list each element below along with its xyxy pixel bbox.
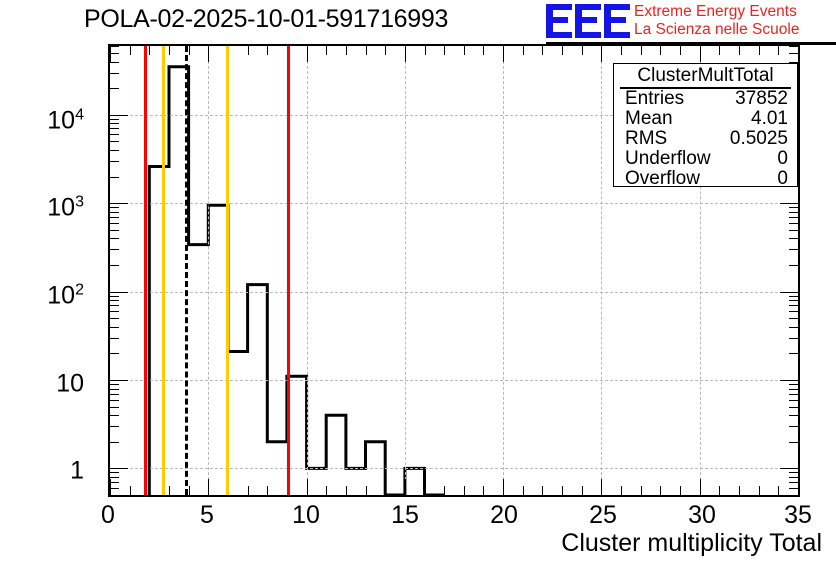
y-axis-tick [110,468,128,469]
y-axis-tick [789,207,798,208]
y-axis-tick [110,472,119,473]
y-axis-tick [110,384,119,385]
y-axis-tick [789,488,798,489]
x-axis-tick [621,46,622,55]
y-axis-tick [110,128,119,129]
x-axis-tick [267,46,268,55]
x-axis-tick [542,486,543,495]
x-ticklabel-25: 25 [589,501,617,530]
y-axis-tick [110,238,119,239]
y-axis-tick [110,212,119,213]
stats-row-underflow: Underflow 0 [614,149,797,169]
y-axis-tick [780,468,798,469]
eee-logo-line2: La Scienza nelle Scuole [634,21,799,39]
x-axis-tick [307,46,308,62]
x-axis-tick [385,46,386,55]
x-axis-tick [759,486,760,495]
y-axis-tick [110,150,119,151]
stats-key-overflow: Overflow [625,169,700,189]
x-axis-tick [601,46,602,62]
stats-value-entries: 37852 [735,89,788,109]
x-axis-tick [130,46,131,55]
x-axis-tick [346,486,347,495]
x-axis-tick [778,486,779,495]
x-axis-tick [641,46,642,55]
x-axis-tick [660,486,661,495]
x-axis-tick [169,46,170,55]
x-axis-tick [326,486,327,495]
stats-value-overflow: 0 [777,169,788,189]
eee-logo-line1: Extreme Energy Events [634,3,797,20]
x-axis-tick [641,486,642,495]
y-axis-tick [110,207,119,208]
y-axis-tick [789,212,798,213]
y-ticklabel-10: 10 [56,370,84,399]
x-axis-tick [700,46,701,62]
y-axis-tick [110,442,119,443]
x-axis-tick [621,486,622,495]
x-axis-tick [739,486,740,495]
y-ticklabel-1: 1 [70,457,84,486]
mean-line [185,46,188,495]
y-axis-tick [789,400,798,401]
y-axis-tick [110,46,119,47]
x-axis-tick [444,486,445,495]
x-axis-tick [739,46,740,55]
y-ticklabel-10000: 104 [47,106,84,135]
y-axis-tick [789,300,798,301]
x-axis-tick [582,46,583,55]
x-axis-tick [542,46,543,55]
y-ticklabel-100: 102 [47,281,84,310]
stats-box: ClusterMultTotal Entries 37852 Mean 4.01… [613,63,798,187]
y-axis-tick [789,394,798,395]
y-axis-tick [110,353,119,354]
x-axis-tick [130,486,131,495]
y-axis-tick [110,62,119,63]
x-ticklabel-30: 30 [688,501,716,530]
x-axis-tick [405,479,406,495]
x-axis-tick [601,479,602,495]
y-axis-tick [110,223,119,224]
y-axis-tick [110,318,119,319]
stats-key-mean: Mean [625,109,673,129]
x-axis-tick [307,479,308,495]
y-axis-tick [110,407,119,408]
x-axis-tick [483,486,484,495]
x-axis-tick [385,486,386,495]
y-axis-tick [110,305,119,306]
y-axis-tick [789,311,798,312]
y-axis-tick [789,296,798,297]
stats-row-entries: Entries 37852 [614,89,797,109]
y-axis-tick [110,230,119,231]
gridline-vertical [307,46,308,495]
x-axis-tick [248,46,249,55]
x-ticklabel-5: 5 [200,501,214,530]
x-axis-tick [189,486,190,495]
eee-logo: Extreme Energy Events La Scienza nelle S… [546,2,836,44]
x-axis-tick [425,486,426,495]
y-axis-tick [110,389,119,390]
y-axis-tick [780,292,798,293]
y-axis-tick [789,238,798,239]
stats-key-rms: RMS [625,129,667,149]
y-ticklabel-1000: 103 [47,193,84,222]
y-axis-tick [110,394,119,395]
y-axis-tick [789,407,798,408]
y-axis-tick [789,353,798,354]
y-axis-tick [110,400,119,401]
y-axis-tick [789,249,798,250]
y-axis-tick [789,53,798,54]
x-axis-tick [523,486,524,495]
y-axis-tick [789,46,798,47]
y-axis-tick [789,472,798,473]
eee-logo-mark [546,4,630,38]
y-axis-tick [110,119,119,120]
x-axis-tick [562,46,563,55]
stats-value-mean: 4.01 [751,109,788,129]
gridline-vertical [503,46,504,495]
y-axis-tick [110,88,119,89]
x-axis-tick [444,46,445,55]
y-axis-tick [789,389,798,390]
x-ticklabel-35: 35 [784,501,812,530]
x-axis-tick [700,479,701,495]
stats-key-entries: Entries [625,89,684,109]
x-axis-title: Cluster multiplicity Total [561,529,822,558]
y-axis-tick [110,53,119,54]
y-axis-tick [789,477,798,478]
y-axis-tick [789,384,798,385]
stats-row-overflow: Overflow 0 [614,169,797,189]
x-ticklabel-0: 0 [101,501,115,530]
gridline-horizontal [110,203,798,204]
stats-key-underflow: Underflow [625,149,711,169]
x-axis-tick [110,46,111,62]
y-axis-tick [789,265,798,266]
gridline-vertical [208,46,209,495]
y-axis-tick [789,223,798,224]
gridline-vertical [405,46,406,495]
x-ticklabel-15: 15 [391,501,419,530]
x-axis-tick [169,486,170,495]
y-axis-tick [110,488,119,489]
x-axis-tick [680,486,681,495]
y-axis-tick [110,141,119,142]
x-axis-tick [719,486,720,495]
page-title: POLA-02-2025-10-01-591716993 [84,5,448,34]
x-axis-tick [189,46,190,55]
y-axis-tick [789,482,798,483]
y-axis-tick [110,426,119,427]
x-axis-tick [660,46,661,55]
y-axis-tick [110,311,119,312]
x-axis-tick [778,46,779,55]
x-axis-tick [346,46,347,55]
stats-row-mean: Mean 4.01 [614,109,797,129]
red-lower-limit [144,46,147,495]
y-axis-tick [110,292,128,293]
x-axis-tick [405,46,406,62]
x-axis-tick [680,46,681,55]
gridline-vertical [601,46,602,495]
x-axis-tick [267,486,268,495]
x-axis-tick [248,486,249,495]
stats-row-rms: RMS 0.5025 [614,129,797,149]
y-axis-tick [780,380,798,381]
y-axis-tick [789,327,798,328]
y-axis-tick [789,426,798,427]
x-axis-tick [366,486,367,495]
y-axis-tick [789,338,798,339]
x-axis-tick [562,486,563,495]
x-axis-tick [582,486,583,495]
x-axis-tick [366,46,367,55]
y-axis-tick [110,415,119,416]
x-axis-tick [759,46,760,55]
y-axis-tick [110,296,119,297]
y-axis-tick [110,217,119,218]
y-axis-tick [110,73,119,74]
yellow-lower-limit [162,46,165,495]
y-axis-tick [110,134,119,135]
x-axis-tick [464,46,465,55]
y-axis-tick [789,230,798,231]
red-upper-limit [287,46,290,495]
yellow-upper-limit [226,46,229,495]
x-axis-tick [425,46,426,55]
y-axis-tick [789,305,798,306]
x-ticklabel-20: 20 [490,501,518,530]
x-axis-tick [483,46,484,55]
x-axis-tick [503,46,504,62]
x-axis-tick [149,46,150,55]
x-axis-tick [503,479,504,495]
y-axis-tick [110,300,119,301]
stats-title: ClusterMultTotal [620,64,791,89]
y-axis-tick [110,327,119,328]
x-ticklabel-10: 10 [292,501,320,530]
y-axis-tick [110,115,128,116]
y-axis-tick [110,338,119,339]
x-axis-tick [149,486,150,495]
y-axis-tick [780,203,798,204]
gridline-horizontal [110,468,798,469]
y-axis-tick [110,161,119,162]
x-axis-tick [719,46,720,55]
x-axis-tick [208,479,209,495]
y-axis-tick [110,249,119,250]
y-axis-tick [110,380,128,381]
y-axis-tick [789,442,798,443]
y-axis-tick [110,123,119,124]
gridline-horizontal [110,292,798,293]
x-axis-tick [208,46,209,62]
y-axis-tick [110,265,119,266]
x-axis-tick [326,46,327,55]
stats-value-underflow: 0 [777,149,788,169]
y-axis-tick [110,177,119,178]
x-axis-tick [523,46,524,55]
y-axis-tick [789,217,798,218]
gridline-horizontal [110,380,798,381]
y-axis-tick [110,482,119,483]
y-axis-tick [789,318,798,319]
x-axis-tick [464,486,465,495]
stats-value-rms: 0.5025 [730,129,788,149]
eee-logo-text: Extreme Energy Events La Scienza nelle S… [634,3,799,38]
y-axis-tick [789,415,798,416]
y-axis-tick [110,477,119,478]
y-axis-tick [110,203,128,204]
